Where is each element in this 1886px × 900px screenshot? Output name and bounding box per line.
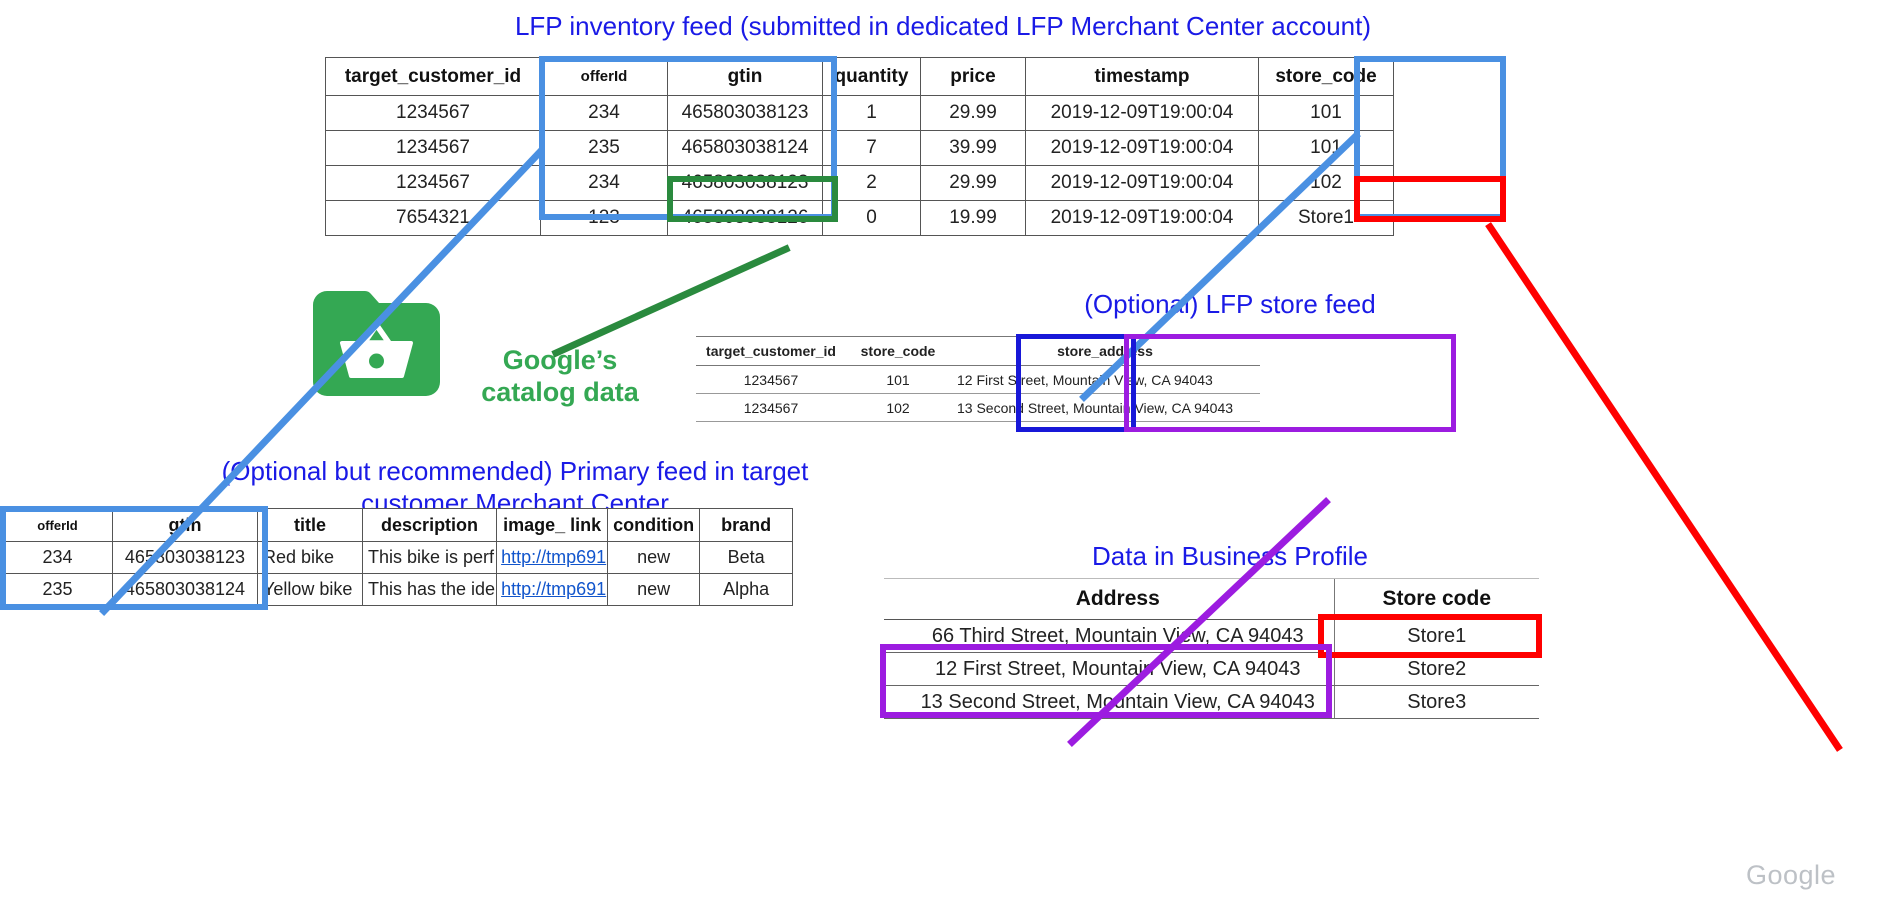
cell-quantity: 1 <box>823 96 921 131</box>
cell-quantity: 7 <box>823 131 921 166</box>
col-description: description <box>363 509 497 542</box>
cell-store-code: Store3 <box>1334 686 1539 719</box>
cell-title: Yellow bike <box>258 574 363 606</box>
highlight-storefeed-store-code <box>1016 334 1136 432</box>
cell-target-customer-id: 1234567 <box>696 394 846 422</box>
cell-timestamp: 2019-12-09T19:00:04 <box>1026 201 1259 236</box>
highlight-inventory-gtin-green <box>667 176 838 222</box>
cell-title: Red bike <box>258 542 363 574</box>
cell-image-link[interactable]: http://tmp691 <box>497 574 608 606</box>
cell-timestamp: 2019-12-09T19:00:04 <box>1026 131 1259 166</box>
cell-price: 29.99 <box>921 166 1026 201</box>
col-store-code: store_code <box>846 337 950 366</box>
cell-condition: new <box>608 542 700 574</box>
table-row: 1234567 234 465803038123 2 29.99 2019-12… <box>326 166 1394 201</box>
diagram-canvas: LFP inventory feed (submitted in dedicat… <box>0 0 1886 900</box>
cell-image-link[interactable]: http://tmp691 <box>497 542 608 574</box>
col-condition: condition <box>608 509 700 542</box>
highlight-storefeed-store-address <box>1124 334 1456 432</box>
col-quantity: quantity <box>823 58 921 96</box>
cell-store-code: 101 <box>846 366 950 394</box>
cell-description: This bike is perf <box>363 542 497 574</box>
cell-timestamp: 2019-12-09T19:00:04 <box>1026 166 1259 201</box>
folder-basket-icon <box>313 291 440 396</box>
caption-lfp-inventory-feed: LFP inventory feed (submitted in dedicat… <box>343 10 1543 42</box>
highlight-bp-store1-red <box>1318 614 1542 658</box>
cell-price: 19.99 <box>921 201 1026 236</box>
cell-description: This has the ide <box>363 574 497 606</box>
caption-business-profile: Data in Business Profile <box>930 540 1530 572</box>
cell-condition: new <box>608 574 700 606</box>
table-row: 1234567 234 465803038123 1 29.99 2019-12… <box>326 96 1394 131</box>
col-spacer <box>884 579 902 620</box>
col-address: Address <box>902 579 1334 620</box>
col-title: title <box>258 509 363 542</box>
lfp-inventory-feed-table: target_customer_id offerId gtin quantity… <box>325 57 1394 236</box>
google-watermark: Google <box>1746 860 1836 891</box>
col-target-customer-id: target_customer_id <box>696 337 846 366</box>
cell-target-customer-id: 1234567 <box>326 166 541 201</box>
cell-target-customer-id: 1234567 <box>696 366 846 394</box>
table-row: 7654321 123 465803038126 0 19.99 2019-12… <box>326 201 1394 236</box>
col-image-link: image_ link <box>497 509 608 542</box>
col-brand: brand <box>700 509 793 542</box>
highlight-bp-addresses-purple <box>880 644 1332 718</box>
cell-target-customer-id: 1234567 <box>326 96 541 131</box>
cell-target-customer-id: 7654321 <box>326 201 541 236</box>
col-price: price <box>921 58 1026 96</box>
table-row: 1234567 235 465803038124 7 39.99 2019-12… <box>326 131 1394 166</box>
cell-target-customer-id: 1234567 <box>326 131 541 166</box>
col-timestamp: timestamp <box>1026 58 1259 96</box>
highlight-primaryfeed-offerid-gtin <box>0 506 268 610</box>
cell-brand: Alpha <box>700 574 793 606</box>
highlight-inventory-store1-red <box>1354 176 1506 222</box>
cell-brand: Beta <box>700 542 793 574</box>
catalog-data-label: Google’s catalog data <box>460 344 660 408</box>
cell-store-code: 102 <box>846 394 950 422</box>
table-header-row: target_customer_id offerId gtin quantity… <box>326 58 1394 96</box>
cell-price: 39.99 <box>921 131 1026 166</box>
cell-timestamp: 2019-12-09T19:00:04 <box>1026 96 1259 131</box>
cell-price: 29.99 <box>921 96 1026 131</box>
col-target-customer-id: target_customer_id <box>326 58 541 96</box>
caption-lfp-store-feed: (Optional) LFP store feed <box>900 288 1560 320</box>
